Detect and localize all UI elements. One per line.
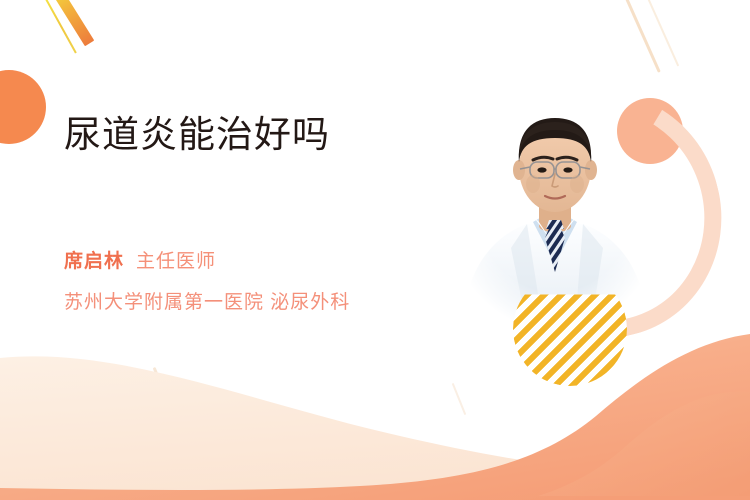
doctor-name: 席启林 <box>64 251 124 272</box>
hairline-stripe-icon <box>452 383 467 415</box>
diagonal-thin-line-icon <box>40 0 77 53</box>
orange-circle-decoration <box>0 70 46 144</box>
striped-circle-decoration <box>513 272 627 386</box>
bottom-salmon-wave <box>0 330 750 500</box>
doctor-hospital-department: 苏州大学附属第一医院 泌尿外科 <box>64 287 350 314</box>
doctor-title: 主任医师 <box>136 251 216 272</box>
page-title: 尿道炎能治好吗 <box>64 112 434 157</box>
title-block: 尿道炎能治好吗 <box>64 112 434 157</box>
hairline-stripe-icon <box>641 0 679 67</box>
hairline-stripe-icon <box>622 0 661 73</box>
bottom-light-wave <box>0 340 750 500</box>
hairline-stripe-icon <box>153 367 171 405</box>
doctor-credit-line: 席启林主任医师 <box>64 246 216 273</box>
video-cover: 尿道炎能治好吗 席启林主任医师 苏州大学附属第一医院 泌尿外科 <box>0 0 750 500</box>
diagonal-ribbon-icon <box>48 0 94 46</box>
